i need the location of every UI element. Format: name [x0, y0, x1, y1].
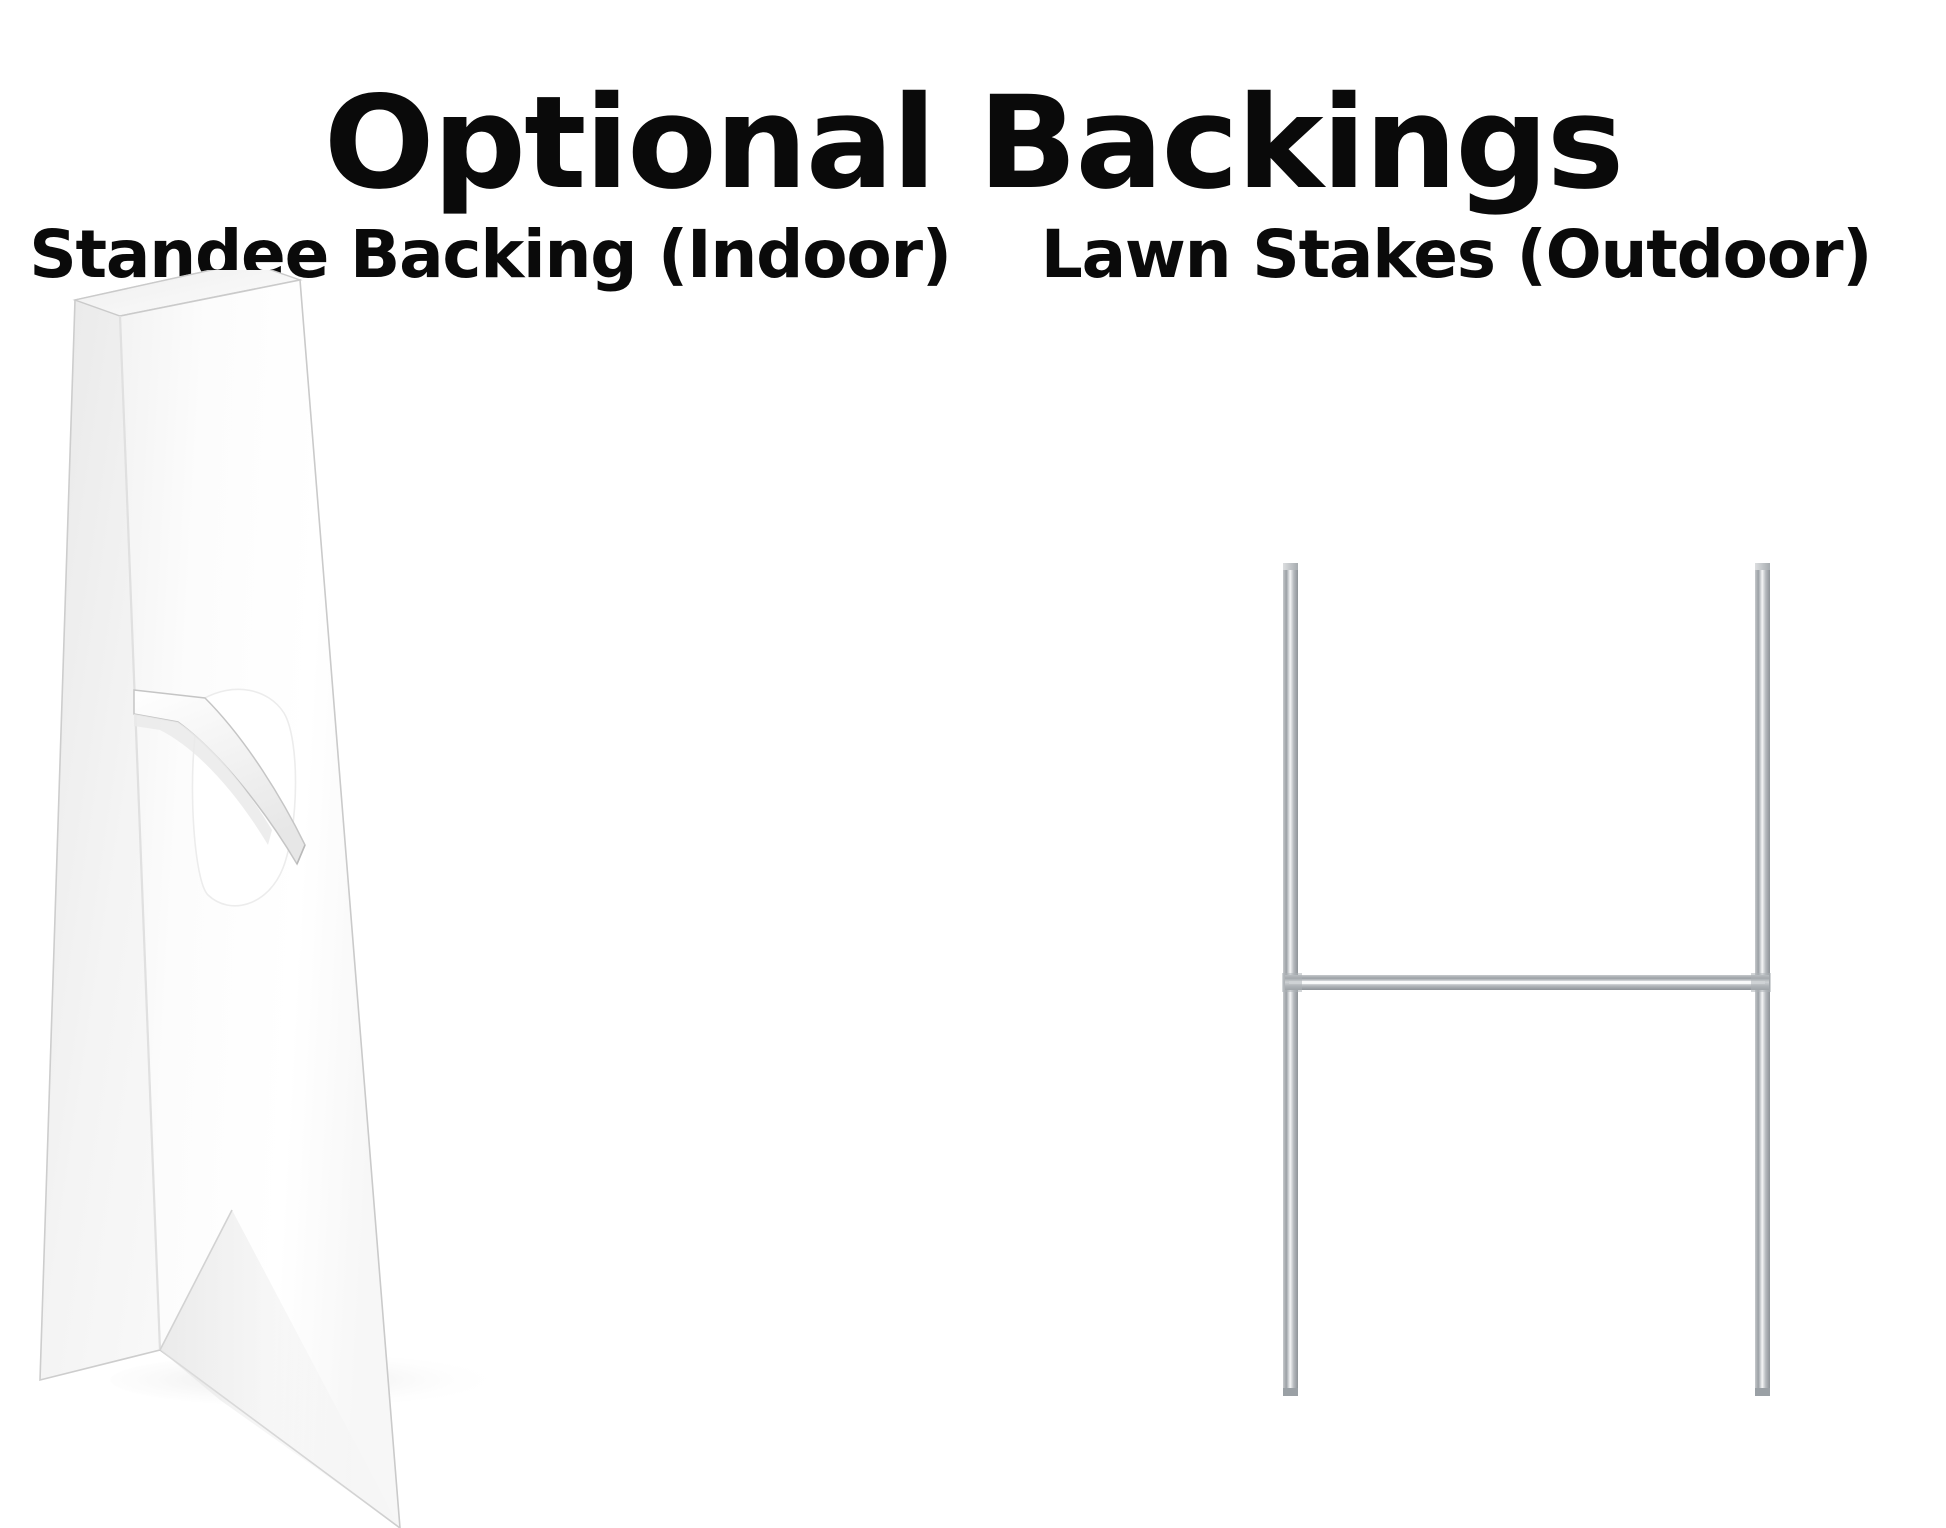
product-image-row: White folding cardboard standee easel ba… [0, 270, 1946, 1528]
lawn-stakes-illustration [973, 270, 1946, 1528]
standee-backing-illustration [0, 270, 973, 1528]
column-headings: Standee Backing (Indoor) Lawn Stakes (Ou… [0, 167, 1946, 257]
product-panel-standee-backing: White folding cardboard standee easel ba… [0, 270, 973, 1528]
lawn-stake-crossbar-highlight [1289, 981, 1765, 984]
lawn-stake-left-leg-bottom-tip [1283, 1388, 1298, 1396]
lawn-stake-right-leg-top-cap [1755, 563, 1770, 570]
lawn-stake-left-leg-top-cap [1283, 563, 1298, 570]
product-panel-lawn-stakes: Galvanized metal H-frame lawn stake with… [973, 270, 1946, 1528]
lawn-stakes-photo [973, 270, 1946, 1528]
lawn-stake-right-leg-bottom-tip [1755, 1388, 1770, 1396]
standee-backing-photo [0, 270, 973, 1528]
lawn-stake-joint-left [1282, 973, 1302, 992]
lawn-stake-joint-right [1751, 973, 1771, 992]
